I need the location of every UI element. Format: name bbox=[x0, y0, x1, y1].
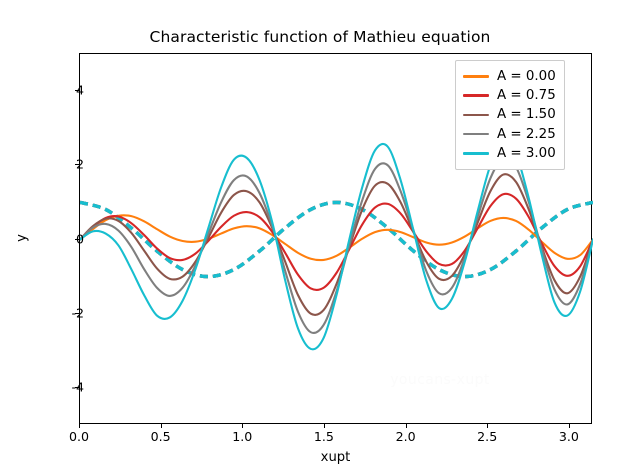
legend-item[interactable]: A = 0.75 bbox=[463, 86, 556, 105]
series-line bbox=[80, 202, 593, 276]
legend-color-swatch bbox=[463, 152, 489, 155]
series-line bbox=[80, 202, 593, 276]
x-tick-label: 2.5 bbox=[477, 429, 497, 444]
legend-label: A = 3.00 bbox=[497, 146, 556, 161]
series-line bbox=[80, 215, 593, 260]
x-tick-mark bbox=[569, 424, 570, 428]
matplotlib-figure: Characteristic function of Mathieu equat… bbox=[0, 0, 640, 476]
y-tick-label: 0 bbox=[76, 231, 84, 246]
series-line bbox=[80, 202, 593, 276]
x-tick-mark bbox=[161, 424, 162, 428]
x-axis-label: xupt bbox=[79, 450, 592, 465]
legend-item[interactable]: A = 0.00 bbox=[463, 67, 556, 86]
x-tick-mark bbox=[406, 424, 407, 428]
legend-label: A = 0.00 bbox=[497, 69, 556, 84]
series-line bbox=[80, 202, 593, 276]
x-tick-label: 0.0 bbox=[69, 429, 89, 444]
series-line bbox=[80, 202, 593, 276]
legend-color-swatch bbox=[463, 133, 489, 136]
y-tick-label: 4 bbox=[76, 83, 84, 98]
y-axis-label: y bbox=[15, 234, 30, 242]
x-tick-mark bbox=[242, 424, 243, 428]
x-tick-mark bbox=[487, 424, 488, 428]
legend-item[interactable]: A = 1.50 bbox=[463, 105, 556, 124]
legend-label: A = 2.25 bbox=[497, 127, 556, 142]
legend-label: A = 0.75 bbox=[497, 88, 556, 103]
legend[interactable]: A = 0.00A = 0.75A = 1.50A = 2.25A = 3.00 bbox=[455, 60, 565, 170]
y-tick-label: -4 bbox=[71, 379, 84, 394]
legend-label: A = 1.50 bbox=[497, 107, 556, 122]
legend-color-swatch bbox=[463, 94, 489, 97]
x-tick-label: 2.0 bbox=[396, 429, 416, 444]
y-tick-label: -2 bbox=[71, 305, 84, 320]
series-line bbox=[80, 141, 593, 349]
watermark: youcans-xupt bbox=[390, 372, 490, 388]
legend-item[interactable]: A = 3.00 bbox=[463, 144, 556, 163]
x-tick-mark bbox=[79, 424, 80, 428]
legend-item[interactable]: A = 2.25 bbox=[463, 125, 556, 144]
y-tick-label: 2 bbox=[76, 157, 84, 172]
x-tick-label: 0.5 bbox=[151, 429, 171, 444]
legend-color-swatch bbox=[463, 114, 489, 117]
x-tick-label: 3.0 bbox=[559, 429, 579, 444]
x-tick-label: 1.5 bbox=[314, 429, 334, 444]
x-tick-mark bbox=[324, 424, 325, 428]
x-tick-label: 1.0 bbox=[232, 429, 252, 444]
legend-color-swatch bbox=[463, 75, 489, 78]
series-line bbox=[80, 194, 593, 290]
page-title: Characteristic function of Mathieu equat… bbox=[0, 28, 640, 46]
